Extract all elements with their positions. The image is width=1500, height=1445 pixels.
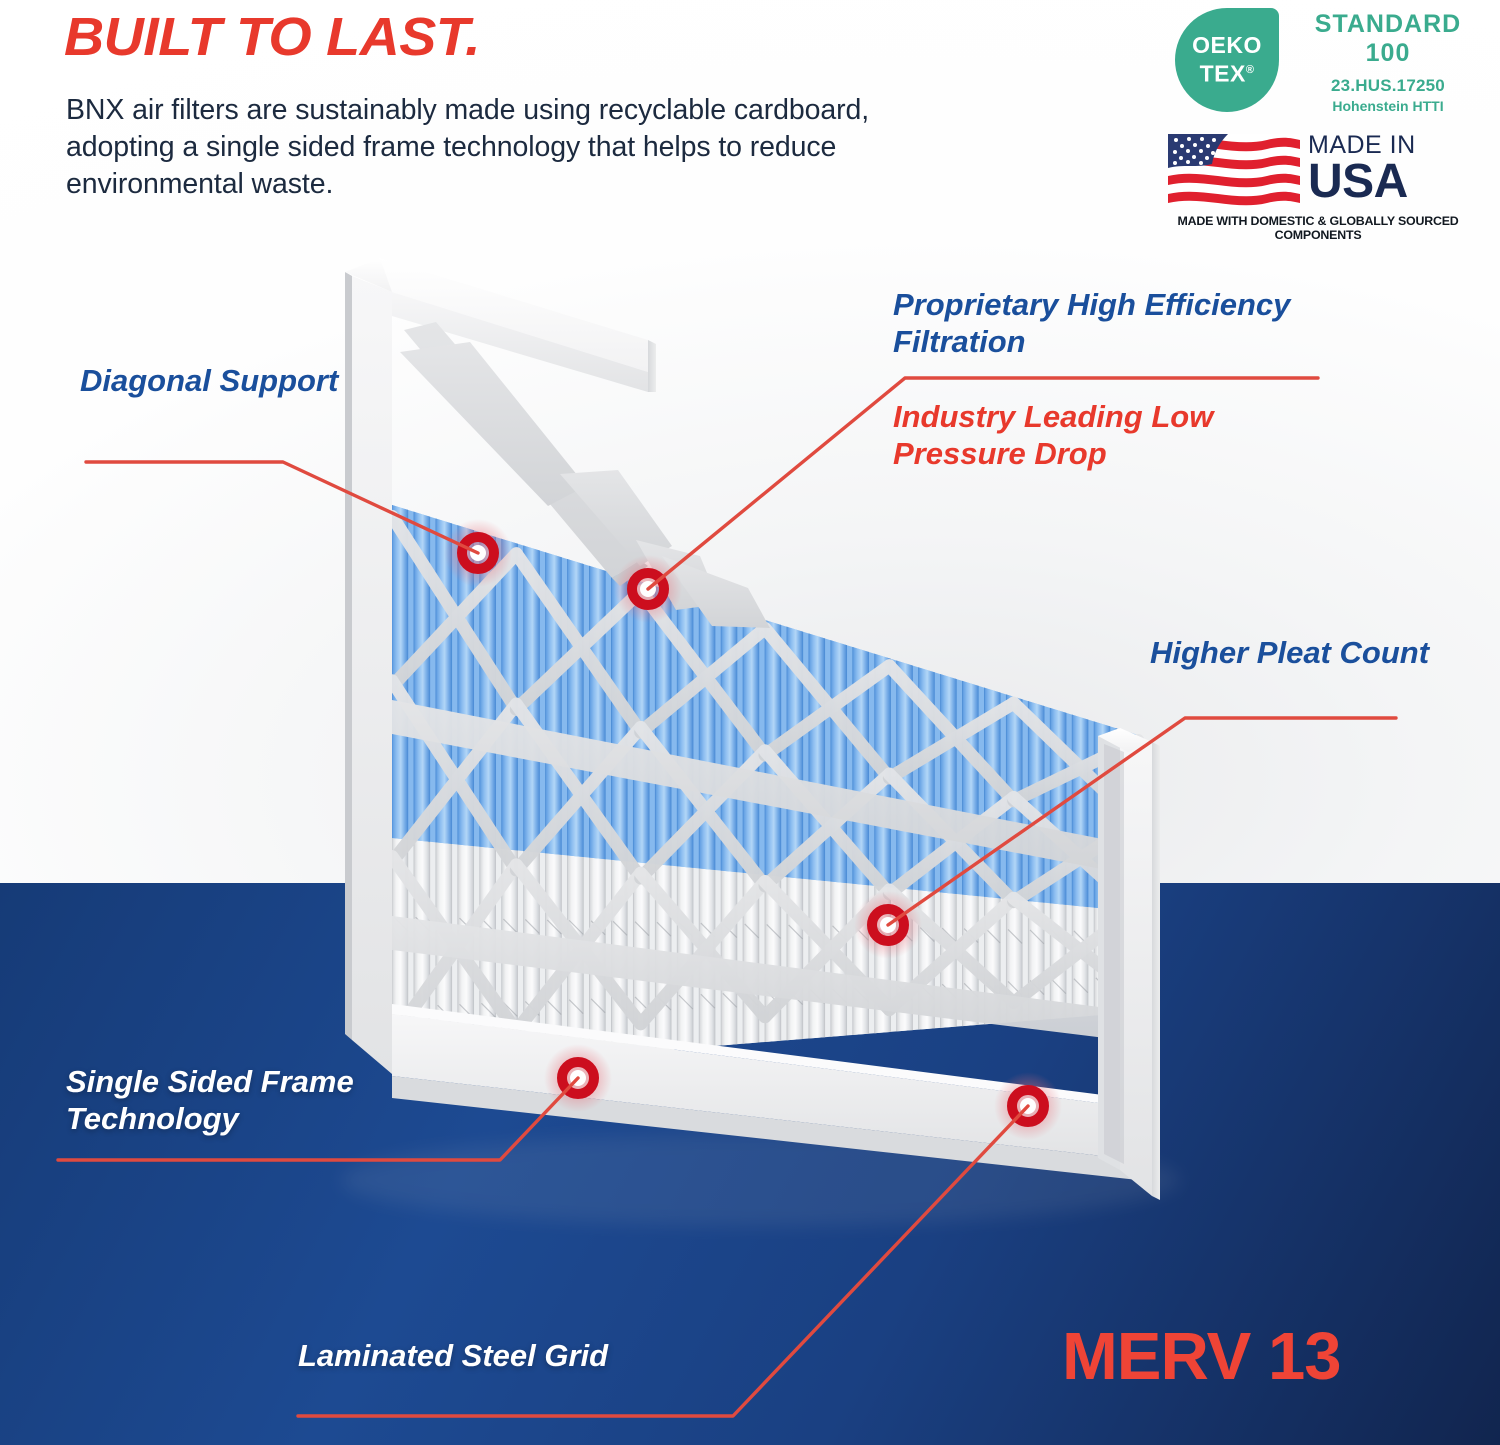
oeko-tex-details: STANDARD 100 23.HUS.17250 Hohenstein HTT… (1293, 10, 1483, 114)
usa-flag-icon (1168, 134, 1300, 206)
usa-components-note: MADE WITH DOMESTIC & GLOBALLY SOURCED CO… (1168, 214, 1468, 242)
callout-single-sided-frame: Single Sided Frame Technology (66, 1063, 486, 1137)
oeko-institute: Hohenstein HTTI (1293, 98, 1483, 114)
usa-wordmark: MADE IN USA (1308, 132, 1416, 205)
callout-low-pressure-drop: Industry Leading Low Pressure Drop (893, 398, 1323, 472)
infographic-canvas: BUILT TO LAST. BNX air filters are susta… (0, 0, 1500, 1445)
oeko-certificate-number: 23.HUS.17250 (1293, 76, 1483, 96)
oeko-standard-label: STANDARD 100 (1293, 10, 1483, 68)
page-headline: BUILT TO LAST. (64, 6, 480, 68)
callout-high-efficiency: Proprietary High Efficiency Filtration (893, 286, 1293, 360)
merv-rating-badge: MERV 13 (1062, 1318, 1341, 1395)
oeko-logo-line1: OEKO (1192, 33, 1262, 58)
usa-country-label: USA (1308, 158, 1416, 205)
oeko-tex-logo-icon: OEKO TEX® (1175, 8, 1279, 112)
oeko-tex-badge: OEKO TEX® STANDARD 100 23.HUS.17250 Hohe… (1175, 8, 1485, 118)
callout-higher-pleat-count: Higher Pleat Count (1150, 634, 1450, 671)
callout-laminated-steel-grid: Laminated Steel Grid (298, 1337, 818, 1374)
intro-paragraph: BNX air filters are sustainably made usi… (66, 92, 936, 203)
oeko-logo-line2: TEX® (1200, 58, 1255, 87)
made-in-usa-badge: MADE IN USA MADE WITH DOMESTIC & GLOBALL… (1168, 132, 1473, 237)
callout-diagonal-support: Diagonal Support (80, 362, 340, 399)
